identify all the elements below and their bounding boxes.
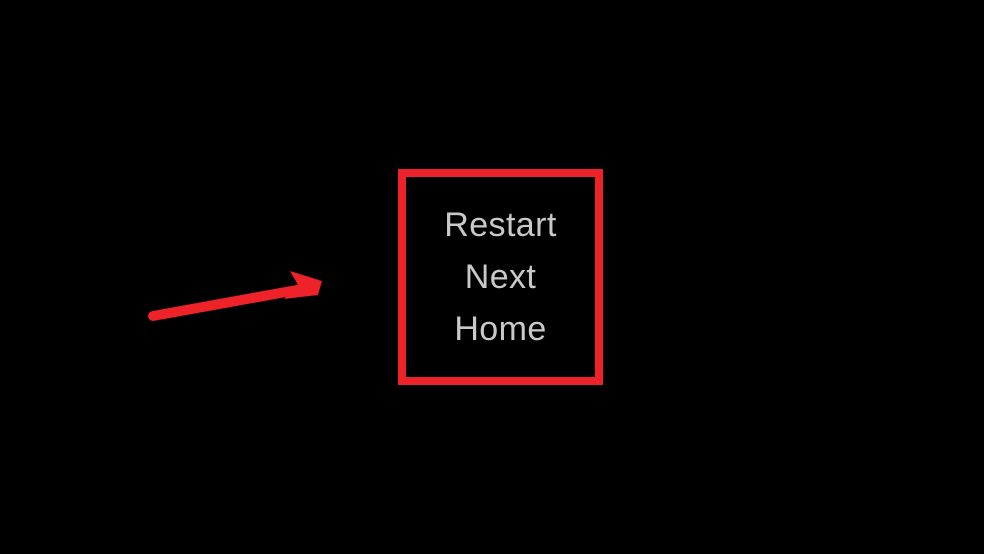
menu-item-next[interactable]: Next <box>465 251 537 303</box>
pause-menu: Restart Next Home <box>398 169 603 385</box>
arrow-shaft <box>153 288 308 316</box>
arrow-annotation-icon <box>140 255 340 330</box>
arrow-head <box>284 271 322 299</box>
menu-item-restart[interactable]: Restart <box>444 199 556 251</box>
app-screen: Restart Next Home <box>0 0 984 554</box>
menu-item-home[interactable]: Home <box>454 303 546 355</box>
